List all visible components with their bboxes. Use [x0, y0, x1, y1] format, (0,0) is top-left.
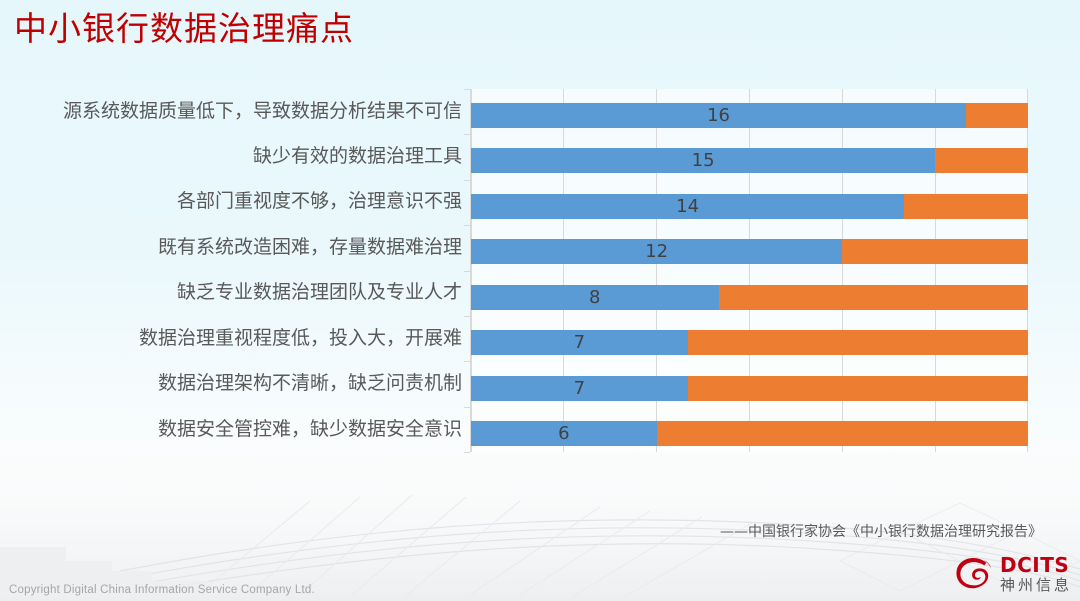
- y-axis-tick: [464, 271, 470, 272]
- bar-row[interactable]: 7: [471, 330, 1028, 355]
- category-label: 数据治理重视程度低，投入大，开展难: [0, 327, 462, 349]
- y-axis-tick: [464, 361, 470, 362]
- bar-segment-secondary: [904, 194, 1028, 219]
- category-label: 源系统数据质量低下，导致数据分析结果不可信: [0, 100, 462, 122]
- y-axis-tick: [464, 134, 470, 135]
- y-axis-tick: [464, 407, 470, 408]
- bar-value-label: 6: [471, 421, 657, 446]
- y-axis-tick: [464, 225, 470, 226]
- bar-segment-secondary: [935, 148, 1028, 173]
- bar-value-label: 7: [471, 376, 688, 401]
- page-title: 中小银行数据治理痛点: [14, 7, 354, 51]
- bar-row[interactable]: 14: [471, 194, 1028, 219]
- bar-row[interactable]: 15: [471, 148, 1028, 173]
- logo-cn-text: 神州信息: [1000, 578, 1072, 593]
- y-axis-tick: [464, 180, 470, 181]
- bar-segment-secondary: [719, 285, 1028, 310]
- bar-segment-secondary: [842, 239, 1028, 264]
- category-label: 数据安全管控难，缺少数据安全意识: [0, 418, 462, 440]
- y-axis-tick: [464, 89, 470, 90]
- bar-row[interactable]: 6: [471, 421, 1028, 446]
- dcits-swoosh-icon: [955, 556, 993, 592]
- plot-area: 16 15 14 12 8: [471, 89, 1028, 452]
- company-logo: DCITS 神州信息: [955, 553, 1072, 595]
- category-label: 缺乏专业数据治理团队及专业人才: [0, 281, 462, 303]
- category-axis-labels: 源系统数据质量低下，导致数据分析结果不可信 缺少有效的数据治理工具 各部门重视度…: [0, 84, 462, 452]
- source-citation: ——中国银行家协会《中小银行数据治理研究报告》: [720, 521, 1042, 541]
- bar-value-label: 14: [471, 194, 904, 219]
- bar-segment-secondary: [966, 103, 1028, 128]
- bar-segment-secondary: [688, 330, 1028, 355]
- bar-value-label: 15: [471, 148, 935, 173]
- y-axis-tick: [464, 316, 470, 317]
- bar-row[interactable]: 7: [471, 376, 1028, 401]
- category-label: 既有系统改造困难，存量数据难治理: [0, 236, 462, 258]
- bar-value-label: 7: [471, 330, 688, 355]
- logo-en-text: DCITS: [1000, 555, 1072, 575]
- bar-value-label: 8: [471, 285, 719, 310]
- stacked-bar-chart: 源系统数据质量低下，导致数据分析结果不可信 缺少有效的数据治理工具 各部门重视度…: [0, 84, 1034, 460]
- logo-wordmark: DCITS 神州信息: [1000, 555, 1072, 593]
- bar-value-label: 16: [471, 103, 966, 128]
- bar-row[interactable]: 8: [471, 285, 1028, 310]
- bar-row[interactable]: 12: [471, 239, 1028, 264]
- category-label: 缺少有效的数据治理工具: [0, 145, 462, 167]
- copyright-text: Copyright Digital China Information Serv…: [9, 584, 315, 596]
- bar-row[interactable]: 16: [471, 103, 1028, 128]
- y-axis-tick: [464, 452, 470, 453]
- bar-segment-secondary: [657, 421, 1028, 446]
- bar-segment-secondary: [688, 376, 1028, 401]
- category-label: 各部门重视度不够，治理意识不强: [0, 190, 462, 212]
- slide-canvas: 中小银行数据治理痛点 源系统数据质量低下，导致数据分析结果不可信 缺少有效的数据…: [0, 0, 1080, 601]
- bar-value-label: 12: [471, 239, 842, 264]
- category-label: 数据治理架构不清晰，缺乏问责机制: [0, 372, 462, 394]
